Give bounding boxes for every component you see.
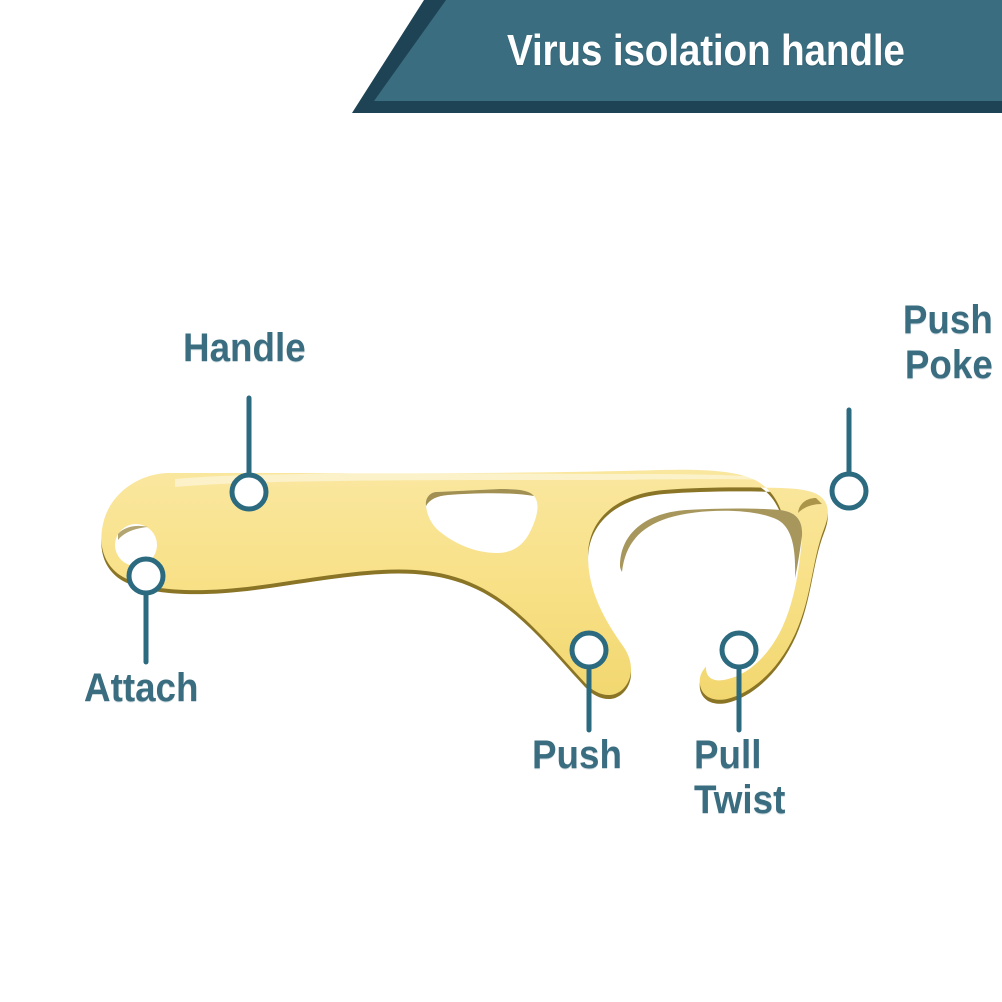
callout-label-push-poke-line-1: Push — [903, 298, 993, 343]
callout-label-attach: Attach — [84, 666, 198, 711]
marker-handle[interactable] — [232, 475, 266, 509]
marker-push-poke[interactable] — [832, 474, 866, 508]
callout-label-push-poke-line-2: Poke — [903, 343, 993, 388]
callout-label-push: Push — [532, 733, 622, 778]
callout-label-pull-twist-line-1: Pull — [694, 733, 785, 778]
callout-label-pull-twist: Pull Twist — [694, 733, 785, 823]
infographic-page: Virus isolation handle — [0, 0, 1002, 1002]
marker-pull-twist[interactable] — [722, 633, 756, 667]
illustration-stage — [0, 0, 1002, 1002]
marker-push[interactable] — [572, 633, 606, 667]
callout-label-pull-twist-line-2: Twist — [694, 778, 785, 823]
callout-label-push-line-1: Push — [532, 733, 622, 778]
marker-attach[interactable] — [129, 559, 163, 593]
callout-label-attach-line-1: Attach — [84, 666, 198, 711]
handle-illustration — [0, 0, 1002, 1002]
callout-label-handle-line-1: Handle — [183, 326, 306, 371]
callout-label-push-poke: Push Poke — [903, 298, 993, 388]
callout-label-handle: Handle — [183, 326, 306, 371]
handle-body — [101, 470, 827, 700]
